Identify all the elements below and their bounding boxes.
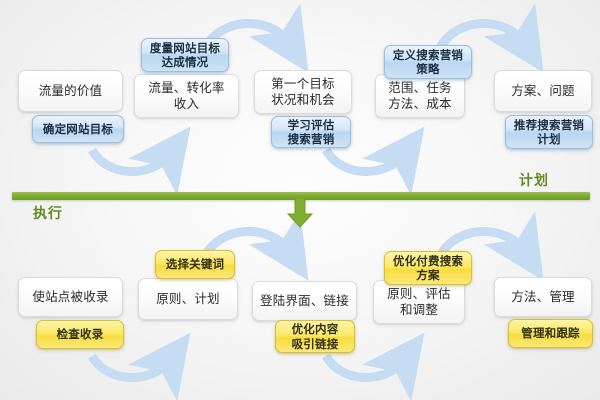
detail-box-g10[interactable]: 方法、管理 [494, 277, 592, 317]
curved-arrow-icon [92, 150, 170, 172]
down-arrow-icon [286, 198, 314, 228]
detail-box-g1[interactable]: 流量的价值 [18, 70, 123, 112]
step-box-g3[interactable]: 学习评估 搜索营销 [271, 116, 351, 148]
step-box-g5[interactable]: 推荐搜索营销 计划 [505, 115, 593, 149]
detail-box-g3[interactable]: 第一个目标 状况和机会 [254, 70, 352, 114]
phase-label-plan: 计划 [519, 170, 549, 190]
detail-box-g4[interactable]: 范围、任务 方法、成本 [375, 74, 465, 118]
detail-box-g2[interactable]: 流量、转化率 收入 [134, 74, 239, 118]
curved-arrow-icon [326, 356, 404, 378]
step-box-g10[interactable]: 管理和跟踪 [508, 319, 593, 348]
step-box-g4[interactable]: 定义搜索营销 策略 [384, 45, 472, 79]
step-box-g9[interactable]: 优化付费搜索 方案 [384, 251, 472, 285]
flowchart-canvas: 流量的价值 确定网站目标 度量网站目标 达成情况 流量、转化率 收入 第一个目标… [0, 0, 600, 400]
detail-box-g7[interactable]: 原则、计划 [138, 278, 238, 320]
curved-arrow-icon [326, 150, 404, 172]
curved-arrow-icon [92, 356, 170, 378]
step-box-g6[interactable]: 检查收录 [36, 320, 124, 349]
detail-box-g9[interactable]: 原则、评估 和调整 [373, 280, 465, 324]
step-box-g7[interactable]: 选择关键词 [155, 250, 235, 279]
step-box-g1[interactable]: 确定网站目标 [32, 115, 124, 143]
detail-box-g6[interactable]: 使站点被收录 [18, 277, 123, 317]
step-box-g2[interactable]: 度量网站目标 达成情况 [141, 38, 229, 72]
detail-box-g8[interactable]: 登陆界面、链接 [252, 281, 357, 321]
step-box-g8[interactable]: 优化内容 吸引链接 [275, 320, 355, 353]
detail-box-g5[interactable]: 方案、问题 [494, 70, 592, 112]
phase-label-execute: 执行 [33, 203, 63, 223]
